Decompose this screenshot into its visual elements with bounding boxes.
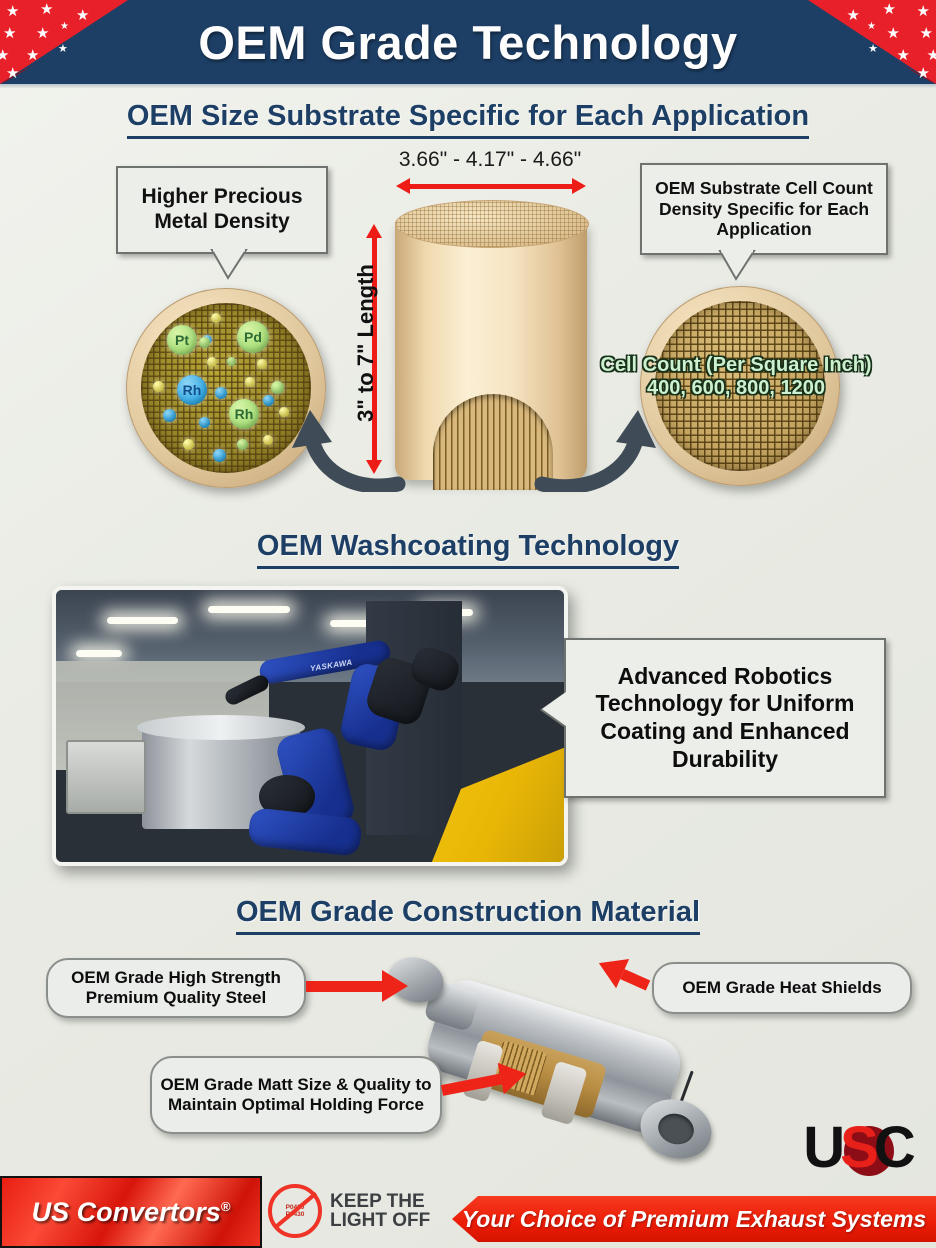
particle-green [199,337,210,348]
callout-tail-icon [714,251,758,281]
poster-page: ★ ★ ★ ★ ★ ★ ★ ★ ★ ★ ★ ★ ★ ★ ★ ★ ★ ★ ★ ★ … [0,0,936,1248]
callout-oem-substrate-cell-count: OEM Substrate Cell Count Density Specifi… [640,163,888,255]
particle-blue [263,395,274,406]
keep-line-2: LIGHT OFF [330,1211,430,1230]
callout-high-strength-steel: OEM Grade High Strength Premium Quality … [46,958,306,1018]
particle-green [271,381,284,394]
callout-tail-icon [206,250,250,280]
callout-text: OEM Grade Heat Shields [682,978,881,998]
bubble-rh-blue: Rh [177,375,207,405]
callout-tail-icon [542,692,566,726]
particle-yellow [153,381,164,392]
callout-higher-precious-metal-density: Higher Precious Metal Density [116,166,328,254]
page-title: OEM Grade Technology [0,0,936,84]
callout-text: Higher Precious Metal Density [118,185,326,235]
diameter-label: 3.66" - 4.17" - 4.66" [330,148,650,172]
brand-logo-us-convertors: US Convertors® [0,1176,262,1248]
particle-yellow [183,439,194,450]
bubble-pd: Pd [237,321,269,353]
particle-blue [163,409,176,422]
keep-line-1: KEEP THE [330,1192,430,1211]
bubble-rh-green: Rh [229,399,259,429]
particle-yellow [257,359,267,369]
curved-arrow-left-icon [288,396,408,492]
usc-logo: U S C [790,1112,924,1184]
particle-yellow [263,435,273,445]
footer-tagline-banner: Your Choice of Premium Exhaust Systems [452,1196,936,1242]
usc-logo-s: S [840,1119,874,1177]
section1-heading-text: OEM Size Substrate Specific for Each App… [127,100,809,139]
bubble-pt: Pt [167,325,197,355]
callout-advanced-robotics: Advanced Robotics Technology for Uniform… [564,638,886,798]
robot-arm-graphic [56,590,564,862]
brand-name: US Convertors [32,1197,221,1227]
section-heading-size-substrate: OEM Size Substrate Specific for Each App… [0,100,936,139]
callout-matt-size-quality: OEM Grade Matt Size & Quality to Maintai… [150,1056,442,1134]
particle-blue [215,387,227,399]
keep-the-light-off-badge: P0420 P0430 KEEP THE LIGHT OFF [268,1185,448,1237]
page-header: ★ ★ ★ ★ ★ ★ ★ ★ ★ ★ ★ ★ ★ ★ ★ ★ ★ ★ ★ ★ … [0,0,936,84]
callout-text: OEM Substrate Cell Count Density Specifi… [648,178,880,240]
washcoating-robot-photo: YASKAWA [52,586,568,866]
section-heading-construction-material: OEM Grade Construction Material [0,896,936,935]
footer-tagline: Your Choice of Premium Exhaust Systems [462,1206,926,1233]
no-check-engine-light-icon: P0420 P0430 [268,1184,322,1238]
particle-blue [199,417,210,428]
diameter-arrow-icon [396,178,586,194]
particle-yellow [245,377,255,387]
usc-logo-u: U [803,1119,840,1177]
callout-text: Advanced Robotics Technology for Uniform… [566,663,884,773]
cell-count-title: Cell Count (Per Square Inch) [586,354,886,377]
section3-heading-text: OEM Grade Construction Material [236,896,700,935]
section-heading-washcoating: OEM Washcoating Technology [0,530,936,569]
arrow-to-steel-icon [306,981,382,992]
usc-logo-c: C [874,1119,911,1177]
particle-yellow [207,357,217,367]
particle-green [227,357,236,366]
cell-count-annotation: Cell Count (Per Square Inch) 400, 600, 8… [586,354,886,400]
curved-arrow-right-icon [530,396,660,492]
callout-heat-shields: OEM Grade Heat Shields [652,962,912,1014]
particle-green [237,439,248,450]
particle-blue [213,449,226,462]
section2-heading-text: OEM Washcoating Technology [257,530,679,569]
header-underline [0,84,936,88]
callout-text: OEM Grade Matt Size & Quality to Maintai… [152,1075,440,1116]
brand-registered-mark: ® [221,1199,231,1214]
particle-yellow [211,313,221,323]
callout-text: OEM Grade High Strength Premium Quality … [48,968,304,1009]
